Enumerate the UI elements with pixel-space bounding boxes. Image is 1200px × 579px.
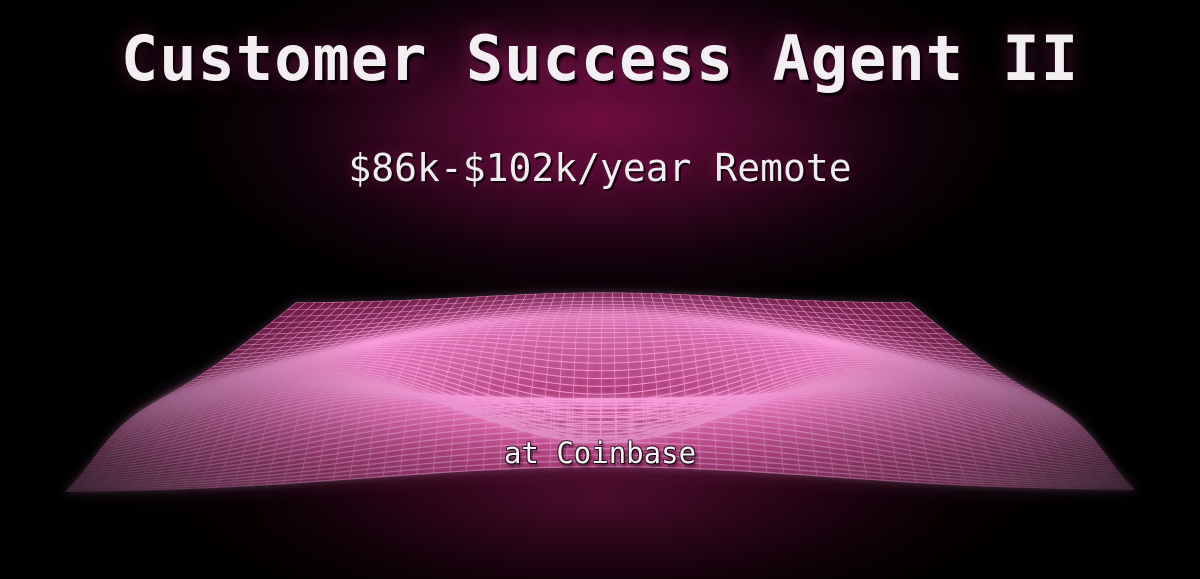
page-title: Customer Success Agent II: [0, 22, 1200, 95]
company-label: at Coinbase: [0, 436, 1200, 470]
job-posting-card: Customer Success Agent II $86k-$102k/yea…: [0, 0, 1200, 579]
salary-location-subtitle: $86k-$102k/year Remote: [0, 146, 1200, 190]
